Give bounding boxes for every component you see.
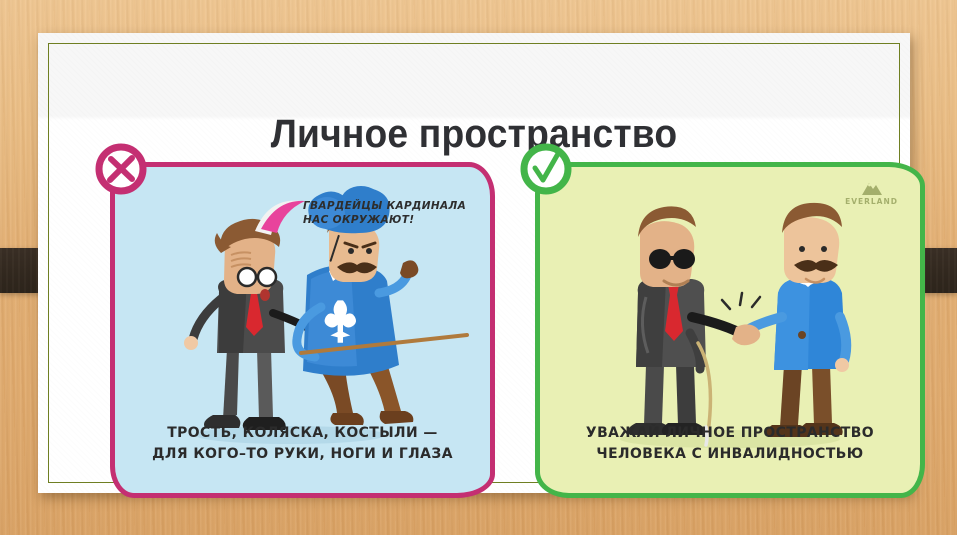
- slide-sheet: Личное пространство: [38, 33, 910, 493]
- panel-correct-frame: EVERLAND УВАЖАЙ ЛИЧНОЕ ПРОСТРАНСТВО ЧЕЛО…: [535, 162, 925, 498]
- panel-wrong-frame: ГВАРДЕЙЦЫ КАРДИНАЛА НАС ОКРУЖАЮТ! ТРОСТЬ…: [110, 162, 495, 498]
- speech-text: ГВАРДЕЙЦЫ КАРДИНАЛА НАС ОКРУЖАЮТ!: [303, 199, 488, 227]
- caption-wrong-line-2: ДЛЯ КОГО–ТО РУКИ, НОГИ И ГЛАЗА: [123, 444, 483, 465]
- caption-wrong: ТРОСТЬ, КОЛЯСКА, КОСТЫЛИ — ДЛЯ КОГО–ТО Р…: [123, 423, 483, 465]
- caption-correct-line-2: ЧЕЛОВЕКА С ИНВАЛИДНОСТЬЮ: [548, 444, 913, 465]
- everland-wordmark: EVERLAND: [845, 197, 898, 206]
- cross-icon: [92, 140, 150, 198]
- caption-correct-line-1: УВАЖАЙ ЛИЧНОЕ ПРОСТРАНСТВО: [548, 423, 913, 444]
- caption-wrong-line-1: ТРОСТЬ, КОЛЯСКА, КОСТЫЛИ —: [123, 423, 483, 444]
- everland-logo: EVERLAND: [845, 181, 898, 206]
- check-icon: [517, 140, 575, 198]
- mountain-icon: [861, 181, 883, 196]
- panel-wrong-example: ГВАРДЕЙЦЫ КАРДИНАЛА НАС ОКРУЖАЮТ! ТРОСТЬ…: [110, 162, 495, 498]
- speech-line-2: НАС ОКРУЖАЮТ!: [303, 214, 414, 226]
- speech-line-1: ГВАРДЕЙЦЫ КАРДИНАЛА: [303, 200, 466, 212]
- cross-badge: [92, 140, 150, 198]
- caption-correct: УВАЖАЙ ЛИЧНОЕ ПРОСТРАНСТВО ЧЕЛОВЕКА С ИН…: [548, 423, 913, 465]
- panel-correct-example: EVERLAND УВАЖАЙ ЛИЧНОЕ ПРОСТРАНСТВО ЧЕЛО…: [535, 162, 925, 498]
- check-badge: [517, 140, 575, 198]
- page-title: Личное пространство: [69, 110, 880, 158]
